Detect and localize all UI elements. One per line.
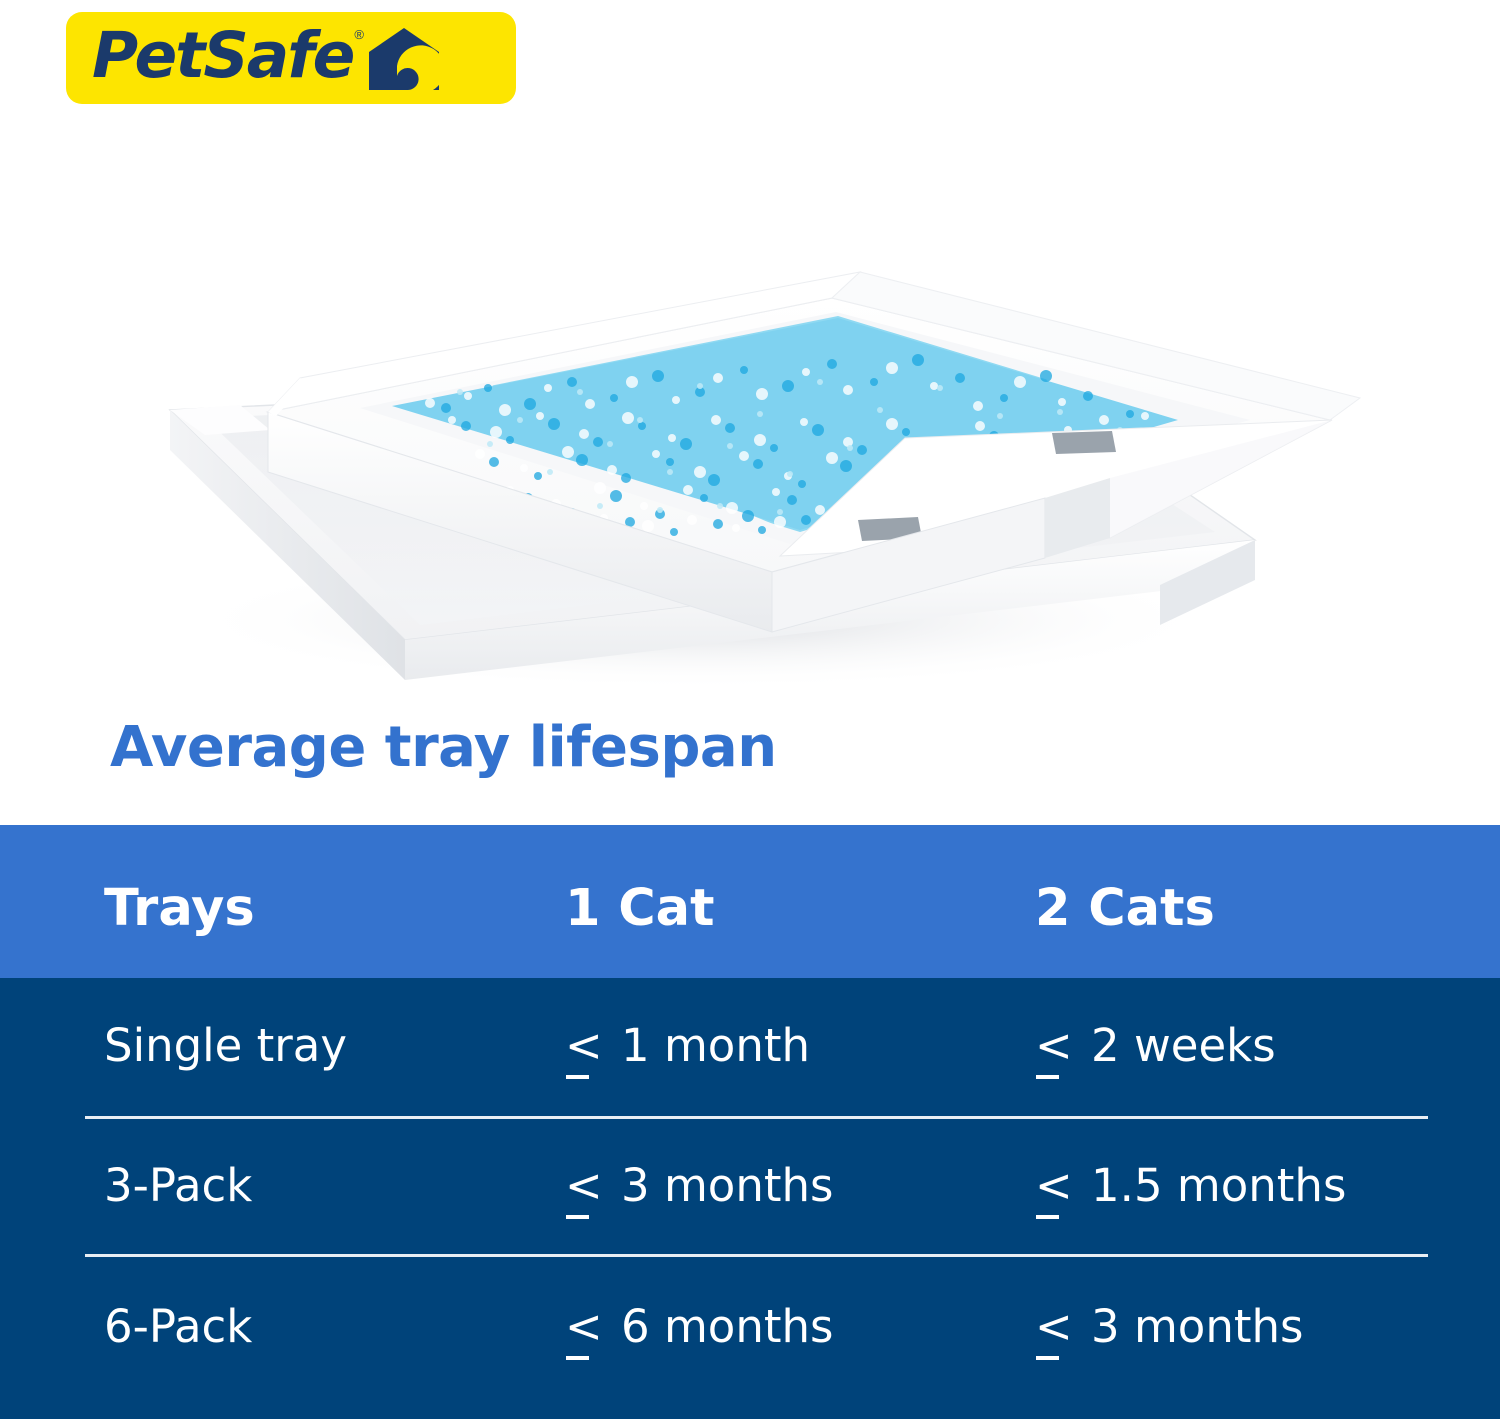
column-header-1-cat: 1 Cat — [565, 883, 714, 934]
table-row: < 2 weeks — [1035, 1023, 1276, 1068]
cell-value: 6 months — [621, 1300, 833, 1353]
tray-tab — [1052, 431, 1116, 454]
cell-value: 2 weeks — [1091, 1019, 1276, 1072]
lifespan-table: Trays 1 Cat 2 Cats Single tray < 1 month… — [0, 825, 1500, 1419]
registered-trademark-icon: ® — [354, 27, 364, 42]
row-divider — [85, 1116, 1428, 1119]
petsafe-logo: PetSafe® — [66, 12, 516, 104]
table-row: Single tray — [104, 1023, 347, 1068]
table-row: < 6 months — [565, 1304, 833, 1349]
column-header-2-cats: 2 Cats — [1035, 883, 1215, 934]
table-row: 6-Pack — [104, 1304, 252, 1349]
table-row: < 1 month — [565, 1023, 810, 1068]
litter-tray-illustration — [0, 120, 1500, 700]
less-than-or-equal-icon: < — [1035, 1304, 1077, 1349]
cell-value: 1 month — [621, 1019, 810, 1072]
table-row: 3-Pack — [104, 1163, 252, 1208]
cell-value: 1.5 months — [1091, 1159, 1346, 1212]
less-than-or-equal-icon: < — [1035, 1023, 1077, 1068]
cell-value: 3 months — [1091, 1300, 1303, 1353]
page-root: PetSafe® — [0, 0, 1500, 1419]
table-row: < 3 months — [1035, 1304, 1303, 1349]
brand-wordmark: PetSafe — [92, 24, 353, 87]
section-title: Average tray lifespan — [110, 720, 777, 776]
table-row: < 1.5 months — [1035, 1163, 1346, 1208]
doghouse-cat-icon — [367, 26, 441, 92]
column-header-trays: Trays — [104, 883, 255, 934]
table-row: < 3 months — [565, 1163, 833, 1208]
less-than-or-equal-icon: < — [565, 1023, 607, 1068]
product-photo — [0, 120, 1500, 700]
row-divider — [85, 1254, 1428, 1257]
less-than-or-equal-icon: < — [565, 1304, 607, 1349]
less-than-or-equal-icon: < — [565, 1163, 607, 1208]
cell-value: 3 months — [621, 1159, 833, 1212]
less-than-or-equal-icon: < — [1035, 1163, 1077, 1208]
